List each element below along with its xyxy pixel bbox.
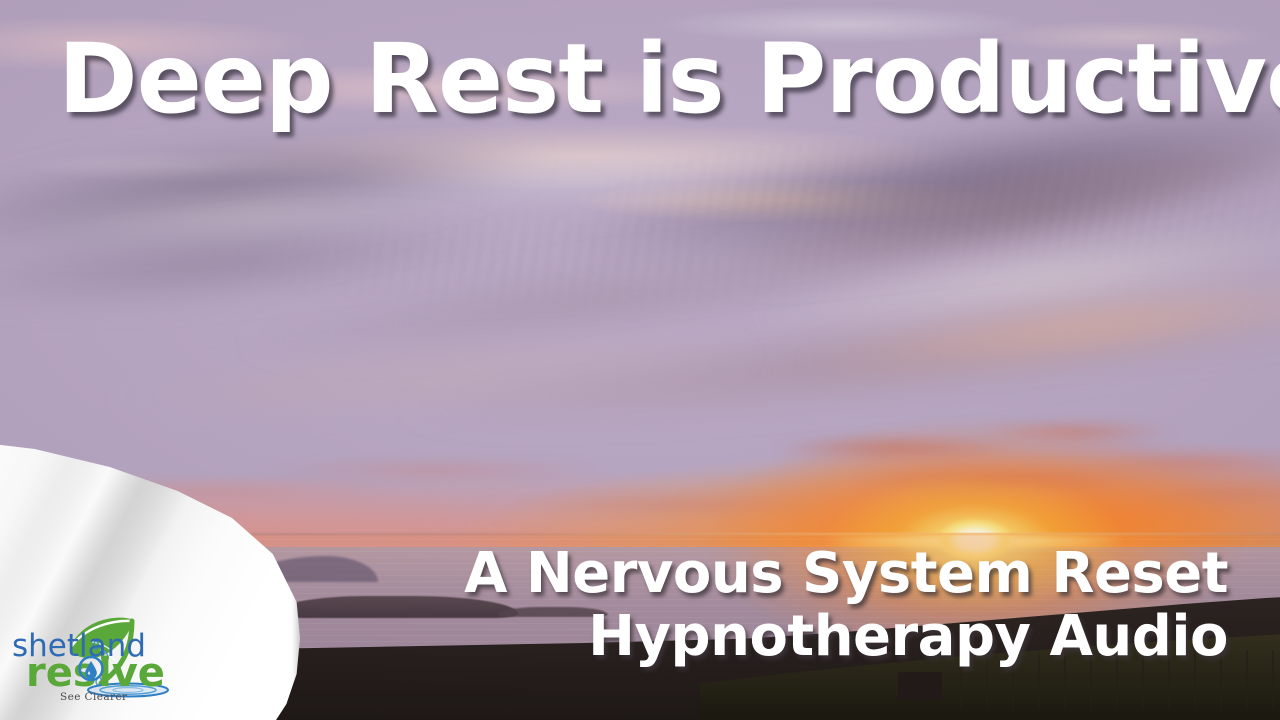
subtitle-line-2: Hypnotherapy Audio [464,605,1228,668]
sunset-cloud-puff [256,461,614,478]
page-title: Deep Rest is Productive [58,28,1280,132]
shed-silhouette [898,672,942,700]
logo-word-lve: lve [98,650,165,696]
subtitle-block: A Nervous System Reset Hypnotherapy Audi… [464,542,1228,669]
thumbnail-canvas: Deep Rest is Productive A Nervous System… [0,0,1280,720]
subtitle-line-1: A Nervous System Reset [464,542,1228,605]
brand-logo[interactable]: shetland res lve See Clearer [8,612,218,704]
logo-tagline: See Clearer [60,691,128,703]
